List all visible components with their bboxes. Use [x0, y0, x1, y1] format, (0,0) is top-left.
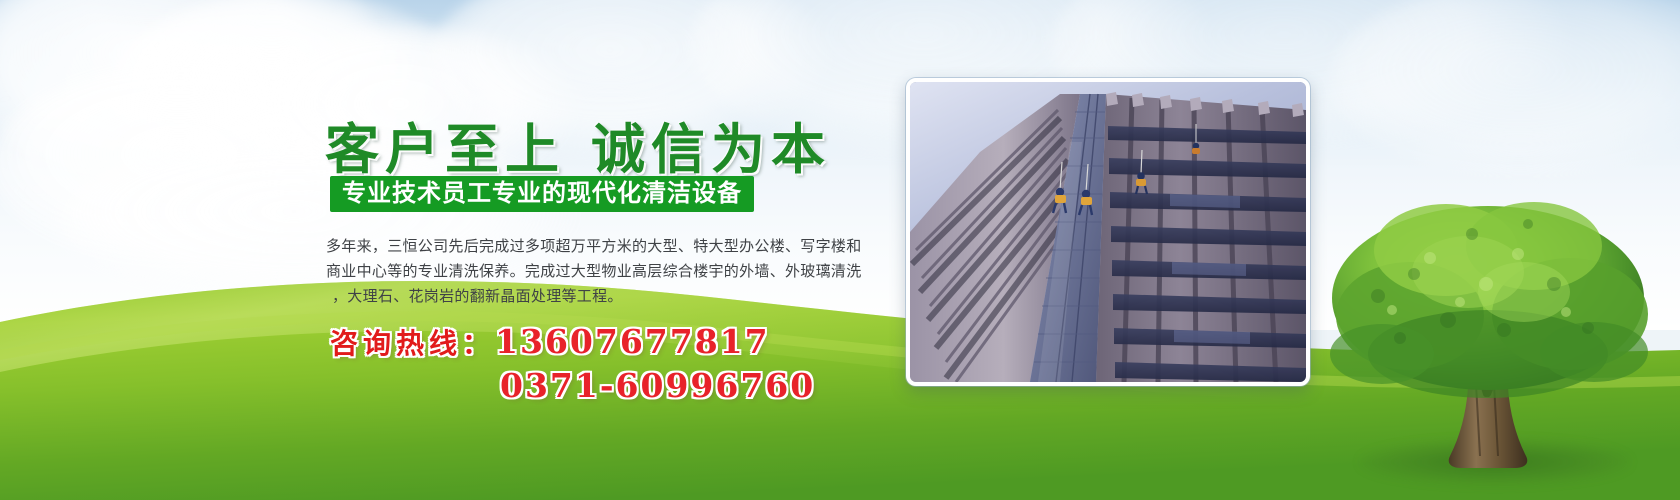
page-title: 客户至上诚信为本: [325, 105, 831, 184]
subtitle-text: 专业技术员工专业的现代化清洁设备: [342, 181, 742, 206]
subtitle-bar: 专业技术员工专业的现代化清洁设备: [330, 176, 754, 212]
description-line-3: ，大理石、花岗岩的翻新晶面处理等工程。: [326, 284, 892, 309]
hotline-label: 咨询热线：: [330, 327, 495, 360]
headline-right: 诚信为本: [591, 117, 831, 181]
description-line-1: 多年来，三恒公司先后完成过多项超万平方米的大型、特大型办公楼、写字楼和: [326, 234, 892, 259]
description-line-2: 商业中心等的专业清洗保养。完成过大型物业高层综合楼宇的外墙、外玻璃清洗: [326, 259, 892, 284]
tree-illustration: [1318, 188, 1660, 488]
hotline-secondary[interactable]: 0371-60996760: [500, 366, 815, 405]
description-paragraph: 多年来，三恒公司先后完成过多项超万平方米的大型、特大型办公楼、写字楼和 商业中心…: [326, 234, 892, 309]
building-photo: [910, 82, 1306, 382]
headline-left: 客户至上: [325, 117, 565, 181]
hotline-mobile-number[interactable]: 13607677817: [495, 322, 770, 361]
cloud-shape: [1330, 0, 1680, 180]
hotline-landline-number[interactable]: 0371-60996760: [500, 366, 815, 405]
promo-banner: 客户至上诚信为本 专业技术员工专业的现代化清洁设备 多年来，三恒公司先后完成过多…: [0, 0, 1680, 500]
building-photo-card[interactable]: [906, 78, 1310, 386]
hotline-primary[interactable]: 咨询热线：13607677817: [330, 322, 770, 362]
